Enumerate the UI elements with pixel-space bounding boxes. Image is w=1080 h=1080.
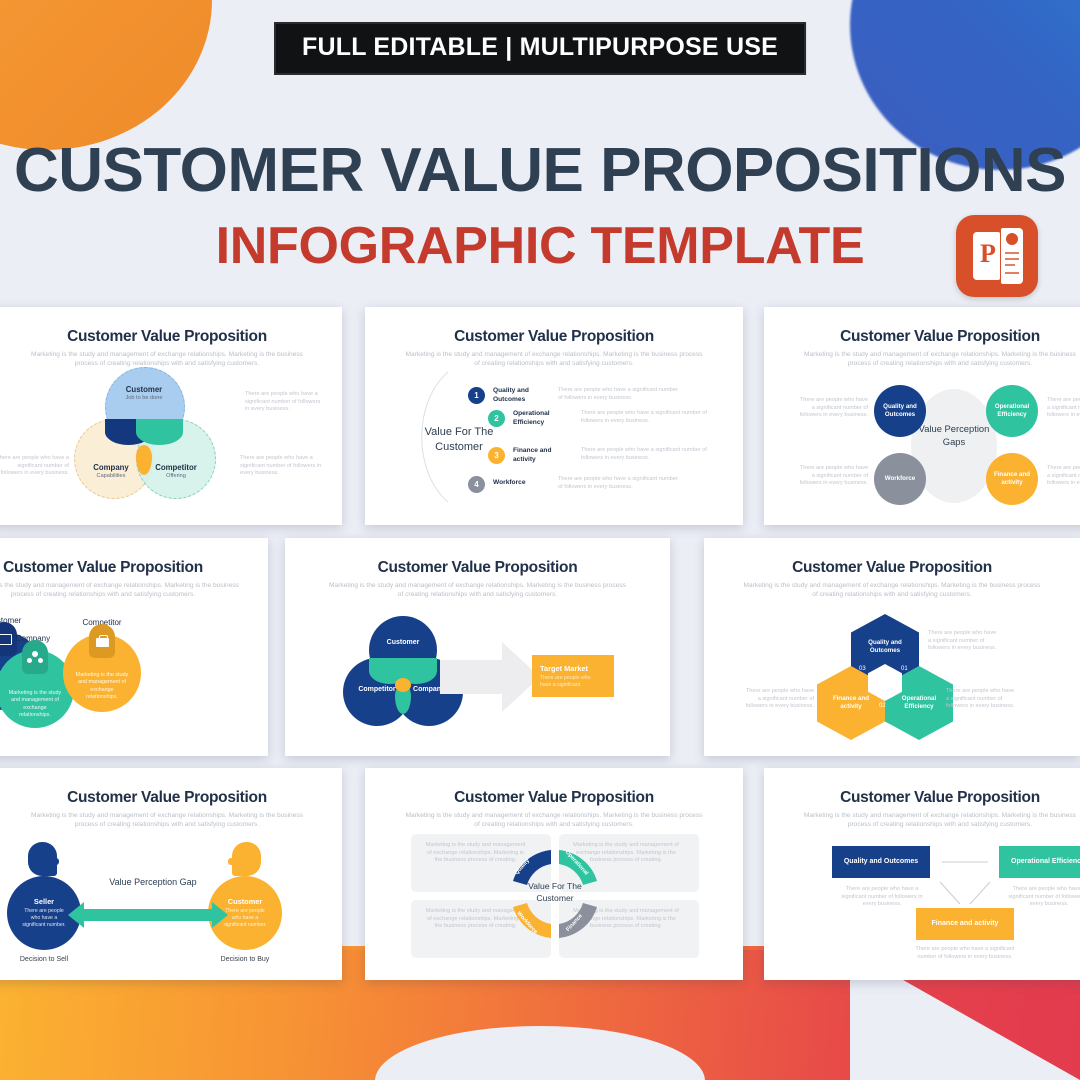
hexagon-num-03: 03 (859, 666, 866, 672)
gaps-circle-workforce[interactable]: Workforce (874, 453, 926, 505)
arc-label-2: Operational Efficiency (513, 410, 569, 428)
slide-icon-circles[interactable]: Customer Value Proposition Marketing is … (0, 538, 268, 756)
venn-diagram: Customer Job to be done Company Capabili… (74, 367, 234, 507)
hexagon-note-3: There are people who have a significant … (744, 688, 814, 711)
gap-label: Value Perception Gap (97, 876, 209, 888)
gaps-circle-finance[interactable]: Finance and activity (986, 453, 1038, 505)
powerpoint-slide-sheet (1001, 228, 1023, 284)
slide-title: Customer Value Proposition (0, 789, 342, 807)
venn-note-right: There are people who have a significant … (245, 391, 323, 414)
decorative-blob-top-left (0, 0, 212, 150)
arc-badge-4: 4 (468, 476, 485, 493)
venn-note-right-2: There are people who have a significant … (240, 455, 324, 478)
arc-badge-1: 1 (468, 387, 485, 404)
slide-venn-pastel[interactable]: Customer Value Proposition Marketing is … (0, 307, 342, 525)
venn-overlap-teal (136, 419, 183, 445)
slide-subtitle: Marketing is the study and management of… (794, 812, 1080, 830)
box-note-finance: There are people who have a significant … (910, 946, 1020, 961)
box-note-operational: There are people who have a significant … (1003, 886, 1080, 909)
donut-center-label: Value For The Customer (514, 880, 596, 904)
slide-title: Customer Value Proposition (365, 789, 743, 807)
poster-canvas: FULL EDITABLE | MULTIPURPOSE USE CUSTOME… (0, 0, 1080, 1080)
arc-note-4: There are people who have a significant … (558, 476, 678, 491)
slide-subtitle: Marketing is the study and management of… (405, 812, 703, 830)
gaps-note-2: There are people who have a significant … (1047, 397, 1080, 420)
gaps-circle-quality[interactable]: Quality and Outcomes (874, 385, 926, 437)
gaps-note-1: There are people who have a significant … (798, 397, 868, 420)
arc-note-2: There are people who have a significant … (581, 410, 711, 425)
slide-subtitle: Marketing is the study and management of… (327, 582, 628, 600)
arc-label-3: Finance and activity (513, 447, 569, 465)
venn-label-competitor: Competitor Offering (136, 463, 216, 479)
double-arrow-icon (68, 898, 228, 932)
people-group-icon (22, 640, 48, 674)
hexagon-num-02: 02 (879, 703, 886, 709)
arc-note-1: There are people who have a significant … (558, 387, 678, 402)
slide-venn-arrow[interactable]: Customer Value Proposition Marketing is … (285, 538, 670, 756)
slide-three-box[interactable]: Customer Value Proposition Marketing is … (764, 768, 1080, 980)
customer-head-icon (232, 842, 261, 876)
icon-circle-competitor[interactable]: Marketing is the study and management of… (63, 634, 141, 712)
seller-caption: Decision to Sell (7, 956, 81, 963)
slide-title: Customer Value Proposition (365, 328, 743, 346)
target-market-box[interactable]: Target Market There are people who have … (532, 655, 614, 697)
arc-note-3: There are people who have a significant … (581, 447, 711, 462)
venn-label-customer: Customer Job to be done (105, 385, 183, 401)
powerpoint-letter: P (980, 241, 996, 267)
slide-title: Customer Value Proposition (704, 559, 1080, 577)
slide-donut-four[interactable]: Customer Value Proposition Marketing is … (365, 768, 743, 980)
hexagon-note-1: There are people who have a significant … (928, 630, 998, 653)
slide-hexagons[interactable]: Customer Value Proposition Marketing is … (704, 538, 1080, 756)
hexagon-note-2: There are people who have a significant … (946, 688, 1016, 711)
slide-title: Customer Value Proposition (285, 559, 670, 577)
pie-glyph-icon (1006, 233, 1018, 245)
gaps-note-4: There are people who have a significant … (1047, 465, 1080, 488)
slide-title: Customer Value Proposition (764, 328, 1080, 346)
slide-perception-gap-arrow[interactable]: Customer Value Proposition Marketing is … (0, 768, 342, 980)
slide-subtitle: Marketing is the study and management of… (0, 582, 244, 600)
page-title: CUSTOMER VALUE PROPOSITIONS (0, 140, 1080, 202)
slide-title: Customer Value Proposition (0, 559, 268, 577)
slide-title: Customer Value Proposition (764, 789, 1080, 807)
gaps-note-3: There are people who have a significant … (798, 465, 868, 488)
hexagon-num-01: 01 (901, 666, 908, 672)
arc-label-1: Quality and Outcomes (493, 387, 549, 405)
arc-label-4: Workforce (493, 479, 549, 488)
gaps-center-label: Value Perception Gaps (917, 422, 991, 448)
slide-numbered-arc[interactable]: Customer Value Proposition Marketing is … (365, 307, 743, 525)
arc-badge-2: 2 (488, 410, 505, 427)
arc-badge-3: 3 (488, 447, 505, 464)
slide-title: Customer Value Proposition (0, 328, 342, 346)
powerpoint-letter-sheet: P (973, 232, 1000, 280)
box-note-quality: There are people who have a significant … (836, 886, 928, 909)
venn-note-left: There are people who have a significant … (0, 455, 69, 478)
gaps-circle-operational[interactable]: Operational Efficiency (986, 385, 1038, 437)
powerpoint-icon: P (956, 215, 1038, 297)
customer-caption: Decision to Buy (208, 956, 282, 963)
icon-circle-company[interactable]: Marketing is the study and management of… (0, 650, 74, 728)
page-subtitle: INFOGRAPHIC TEMPLATE (0, 220, 1080, 272)
slide-perception-gaps[interactable]: Customer Value Proposition Marketing is … (764, 307, 1080, 525)
ribbon-banner: FULL EDITABLE | MULTIPURPOSE USE (274, 22, 806, 75)
slide-subtitle: Marketing is the study and management of… (20, 812, 314, 830)
slide-subtitle: Marketing is the study and management of… (794, 351, 1080, 369)
slide-subtitle: Marketing is the study and management of… (740, 582, 1044, 600)
